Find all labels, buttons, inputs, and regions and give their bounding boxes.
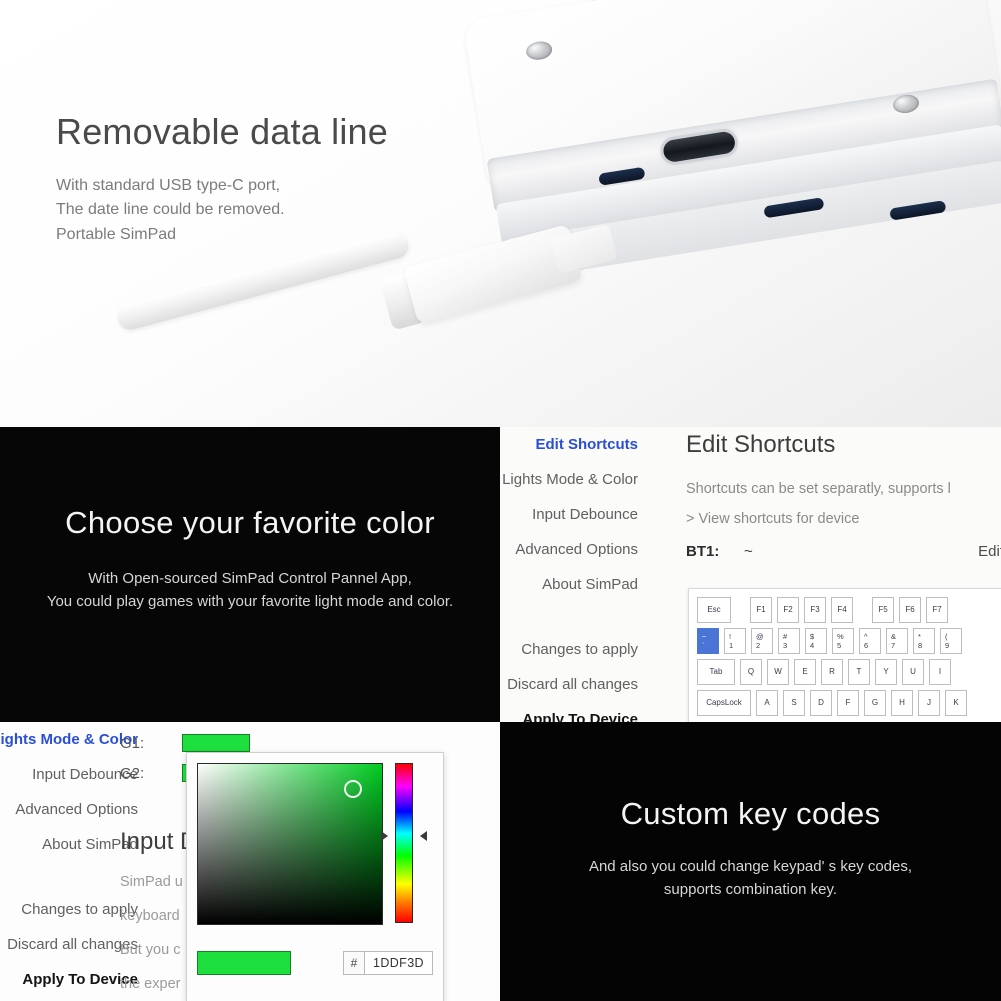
- keyboard-key[interactable]: K: [945, 690, 967, 716]
- key-upper-legend: @: [756, 632, 764, 641]
- key-upper-legend: $: [810, 632, 814, 641]
- color-picker-top: [197, 763, 433, 925]
- keyboard-key[interactable]: $4: [805, 628, 827, 654]
- line-left-fragment: But you c: [120, 942, 180, 958]
- lights-sidebar-menu: Lights Mode & ColorInput DebounceAdvance…: [0, 722, 138, 997]
- key-upper-legend: *: [918, 632, 921, 641]
- keyboard-key[interactable]: @2: [751, 628, 773, 654]
- key-lower-legend: 8: [918, 641, 922, 650]
- light-group-label: G2:: [120, 765, 182, 782]
- color-promo-subtitle: With Open-sourced SimPad Control Pannel …: [0, 567, 500, 614]
- hex-input-group[interactable]: # 1DDF3D: [343, 951, 433, 975]
- hero-subtitle: With standard USB type-C port, The date …: [56, 174, 388, 248]
- shortcuts-menu-action-1[interactable]: Discard all changes: [500, 667, 638, 702]
- keyboard-key[interactable]: G: [864, 690, 886, 716]
- keyboard-key[interactable]: F4: [831, 597, 853, 623]
- color-promo-title: Choose your favorite color: [0, 505, 500, 541]
- shortcuts-menu-action-2[interactable]: Apply To Device: [500, 702, 638, 722]
- virtual-keyboard-popup[interactable]: EscF1F2F3F4F5F6F7~`!1@2#3$4%5^6&7*8(9Tab…: [688, 588, 1001, 728]
- keyboard-row-0: EscF1F2F3F4F5F6F7: [697, 597, 1001, 623]
- binding-edit-button[interactable]: Edit: [978, 543, 1001, 560]
- keyboard-key[interactable]: J: [918, 690, 940, 716]
- light-group-row-0: G1:: [120, 734, 500, 752]
- hue-marker-left-icon: [381, 831, 388, 841]
- lights-menu-item-1[interactable]: Input Debounce: [0, 757, 138, 792]
- hero-text-block: Removable data line With standard USB ty…: [56, 112, 388, 248]
- keyboard-key[interactable]: I: [929, 659, 951, 685]
- sv-cursor[interactable]: [344, 780, 362, 798]
- keyboard-key[interactable]: (9: [940, 628, 962, 654]
- key-lower-legend: `: [702, 641, 705, 650]
- keyboard-key[interactable]: &7: [886, 628, 908, 654]
- lights-menu-action-1[interactable]: Discard all changes: [0, 927, 138, 962]
- light-group-label: G1:: [120, 735, 182, 752]
- keyboard-key[interactable]: %5: [832, 628, 854, 654]
- keyboard-key[interactable]: CapsLock: [697, 690, 751, 716]
- keyboard-key[interactable]: S: [783, 690, 805, 716]
- keyboard-key[interactable]: T: [848, 659, 870, 685]
- keyboard-key[interactable]: F5: [872, 597, 894, 623]
- hue-marker-right-icon: [420, 831, 427, 841]
- keycodes-promo-sub-line-2: supports combination key.: [500, 878, 1001, 901]
- binding-row-bt1: BT1: ~ Edit: [686, 543, 1001, 560]
- keyboard-key[interactable]: W: [767, 659, 789, 685]
- key-lower-legend: 7: [891, 641, 895, 650]
- shortcuts-sidebar-menu: Edit ShortcutsLights Mode & ColorInput D…: [500, 427, 638, 722]
- binding-value: ~: [744, 543, 978, 560]
- keycodes-promo-title: Custom key codes: [500, 796, 1001, 832]
- color-preview-swatch: [197, 951, 291, 975]
- shortcuts-menu-item-3[interactable]: Advanced Options: [500, 532, 638, 567]
- key-lower-legend: 4: [810, 641, 814, 650]
- light-group-color-swatch[interactable]: [182, 734, 250, 752]
- key-lower-legend: 3: [783, 641, 787, 650]
- key-upper-legend: ^: [864, 632, 868, 641]
- keyboard-key[interactable]: Tab: [697, 659, 735, 685]
- hero-sub-line-3: Portable SimPad: [56, 223, 388, 248]
- shortcuts-menu-item-0[interactable]: Edit Shortcuts: [500, 427, 638, 462]
- lights-menu-divider: [0, 862, 138, 892]
- keyboard-key[interactable]: F6: [899, 597, 921, 623]
- keyboard-row-3: CapsLockASDFGHJK: [697, 690, 1001, 716]
- key-upper-legend: !: [729, 632, 731, 641]
- keyboard-key[interactable]: Y: [875, 659, 897, 685]
- key-upper-legend: (: [945, 632, 948, 641]
- color-promo-sub-line-2: You could play games with your favorite …: [0, 590, 500, 613]
- keyboard-row-1: ~`!1@2#3$4%5^6&7*8(9: [697, 628, 1001, 654]
- color-promo-sub-line-1: With Open-sourced SimPad Control Pannel …: [0, 567, 500, 590]
- binding-label: BT1:: [686, 543, 744, 560]
- hue-slider[interactable]: [395, 763, 413, 923]
- lights-menu-item-0[interactable]: Lights Mode & Color: [0, 722, 138, 757]
- keyboard-key[interactable]: !1: [724, 628, 746, 654]
- keyboard-key[interactable]: Q: [740, 659, 762, 685]
- edit-shortcuts-description: Shortcuts can be set separatly, supports…: [686, 481, 1001, 497]
- keyboard-key[interactable]: U: [902, 659, 924, 685]
- keyboard-key[interactable]: E: [794, 659, 816, 685]
- saturation-value-field[interactable]: [197, 763, 383, 925]
- lights-menu-action-2[interactable]: Apply To Device: [0, 962, 138, 997]
- keyboard-key[interactable]: A: [756, 690, 778, 716]
- key-upper-legend: %: [837, 632, 844, 641]
- lights-menu-item-2[interactable]: Advanced Options: [0, 792, 138, 827]
- shortcuts-menu-item-2[interactable]: Input Debounce: [500, 497, 638, 532]
- key-upper-legend: &: [891, 632, 896, 641]
- key-lower-legend: 6: [864, 641, 868, 650]
- keyboard-key[interactable]: R: [821, 659, 843, 685]
- color-picker-bottom: # 1DDF3D: [197, 951, 433, 975]
- keyboard-key[interactable]: *8: [913, 628, 935, 654]
- line-left-fragment: the exper: [120, 976, 180, 992]
- product-collage: Removable data line With standard USB ty…: [0, 0, 1001, 1001]
- keyboard-key[interactable]: F2: [777, 597, 799, 623]
- keyboard-key[interactable]: F1: [750, 597, 772, 623]
- shortcuts-menu-action-0[interactable]: Changes to apply: [500, 632, 638, 667]
- hero-photo-panel: Removable data line With standard USB ty…: [0, 0, 1001, 427]
- line-left-fragment: keyboard: [120, 908, 180, 924]
- key-upper-legend: #: [783, 632, 787, 641]
- line-left-fragment: SimPad u: [120, 874, 183, 890]
- keyboard-key[interactable]: ^6: [859, 628, 881, 654]
- view-shortcuts-link[interactable]: > View shortcuts for device: [686, 511, 1001, 527]
- keyboard-key[interactable]: F: [837, 690, 859, 716]
- keyboard-row-2: TabQWERTYUI: [697, 659, 1001, 685]
- edit-shortcuts-heading: Edit Shortcuts: [686, 431, 1001, 459]
- keycodes-promo-sub-line-1: And also you could change keypad' s key …: [500, 855, 1001, 878]
- shortcuts-menu-divider: [500, 602, 638, 632]
- keyboard-key[interactable]: F3: [804, 597, 826, 623]
- keyboard-key[interactable]: F7: [926, 597, 948, 623]
- shortcuts-menu-item-4[interactable]: About SimPad: [500, 567, 638, 602]
- edit-shortcuts-content: Edit Shortcuts Shortcuts can be set sepa…: [686, 427, 1001, 560]
- keyboard-key[interactable]: D: [810, 690, 832, 716]
- key-lower-legend: 9: [945, 641, 949, 650]
- lights-menu-item-3[interactable]: About SimPad: [0, 827, 138, 862]
- key-upper-legend: ~: [702, 632, 706, 641]
- key-lower-legend: 2: [756, 641, 760, 650]
- keycodes-promo-subtitle: And also you could change keypad' s key …: [500, 855, 1001, 902]
- hex-hash-label: #: [344, 952, 365, 974]
- hero-title: Removable data line: [56, 112, 388, 152]
- shortcuts-menu-item-1[interactable]: Lights Mode & Color: [500, 462, 638, 497]
- keyboard-key[interactable]: H: [891, 690, 913, 716]
- keyboard-key[interactable]: ~`: [697, 628, 719, 654]
- keyboard-key[interactable]: Esc: [697, 597, 731, 623]
- hex-input[interactable]: 1DDF3D: [365, 952, 432, 974]
- lights-menu-action-0[interactable]: Changes to apply: [0, 892, 138, 927]
- hero-sub-line-1: With standard USB type-C port,: [56, 174, 388, 199]
- hue-slider-wrap[interactable]: [391, 763, 417, 925]
- hero-sub-line-2: The date line could be removed.: [56, 198, 388, 223]
- key-lower-legend: 5: [837, 641, 841, 650]
- key-lower-legend: 1: [729, 641, 733, 650]
- keyboard-key[interactable]: #3: [778, 628, 800, 654]
- color-picker-dialog[interactable]: # 1DDF3D: [186, 752, 444, 1001]
